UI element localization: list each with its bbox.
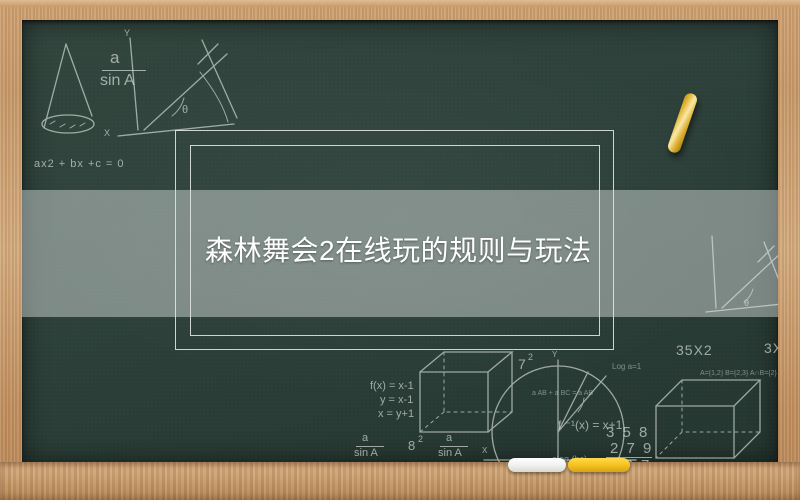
- chalk-ledge: [0, 462, 800, 500]
- chalk-fraction-bar-3: [440, 446, 468, 447]
- frame-top-highlight: [0, 0, 800, 7]
- chalkboard-banner: a sin A Y X θ ax2 + bx +c = 0 f(x) = x-1…: [0, 0, 800, 500]
- circle-sector-drawing: [484, 360, 636, 462]
- cube-drawing-right: [656, 380, 760, 458]
- chalk-fraction-bar-1: [102, 70, 146, 71]
- cone-drawing: [42, 44, 94, 133]
- page-title: 森林舞会2在线玩的规则与玩法: [205, 232, 765, 270]
- angle-axes-drawing: [118, 38, 237, 136]
- ledge-white-chalk: [508, 458, 566, 472]
- cube-drawing-left: [420, 352, 512, 432]
- chalk-fraction-bar-2: [356, 446, 384, 447]
- ledge-yellow-chalk: [568, 458, 630, 472]
